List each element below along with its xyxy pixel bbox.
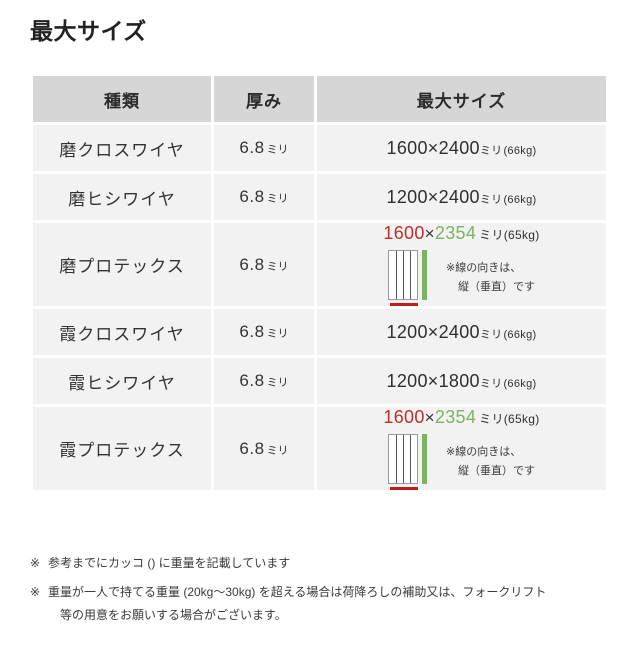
cell-thickness: 6.8ミリ <box>214 309 314 355</box>
size-weight: (66kg) <box>503 145 536 157</box>
footnote-line: 等の用意をお願いする場合がございます。 <box>48 604 610 627</box>
footnote-line: 重量が一人で持てる重量 (20kg〜30kg) を超える場合は荷降ろしの補助又は… <box>48 581 610 604</box>
size-text-group: 1200×2400ミリ(66kg) <box>387 187 537 207</box>
protex-note-line2: 縦（垂直）です <box>446 278 535 297</box>
thickness-unit: ミリ <box>267 261 289 273</box>
footnotes: ※ 参考までにカッコ () に重量を記載しています ※ 重量が一人で持てる重量 … <box>30 552 610 632</box>
panel-orientation-diagram-icon <box>388 434 434 490</box>
cell-maxsize: 1200×2400ミリ(66kg) <box>317 309 606 355</box>
protex-width-value: 1600 <box>383 223 424 243</box>
cell-thickness: 6.8ミリ <box>214 174 314 220</box>
thickness-value: 6.8 <box>239 371 264 390</box>
protex-height-value: 2354 <box>435 407 476 427</box>
size-text-group: 1600×2400ミリ(66kg) <box>387 138 537 158</box>
footnote-mark: ※ <box>30 552 48 575</box>
diagram-vertical-line <box>396 251 397 299</box>
size-dimensions: 1200×2400 <box>387 322 480 342</box>
thickness-unit: ミリ <box>267 144 289 156</box>
footnote-item: ※ 重量が一人で持てる重量 (20kg〜30kg) を超える場合は荷降ろしの補助… <box>30 581 610 627</box>
table-header-row: 種類 厚み 最大サイズ <box>33 76 606 122</box>
thickness-value: 6.8 <box>239 439 264 458</box>
page-title: 最大サイズ <box>30 18 147 46</box>
protex-detail-row: ※線の向きは、 縦（垂直）です <box>388 250 535 306</box>
protex-weight: (65kg) <box>504 228 540 242</box>
table-row: 霞クロスワイヤ 6.8ミリ 1200×2400ミリ(66kg) <box>33 309 606 355</box>
protex-weight: (65kg) <box>504 412 540 426</box>
cell-maxsize: 1600×2400ミリ(66kg) <box>317 125 606 171</box>
thickness-unit: ミリ <box>267 377 289 389</box>
table-row: 磨プロテックス 6.8ミリ 1600×2354ミリ(65kg) <box>33 223 606 306</box>
thickness-unit: ミリ <box>267 193 289 205</box>
diagram-vertical-line <box>396 435 397 483</box>
diagram-vertical-line <box>410 251 411 299</box>
cell-maxsize: 1200×2400ミリ(66kg) <box>317 174 606 220</box>
protex-size-block: 1600×2354ミリ(65kg) ※線の向きは <box>317 407 606 490</box>
protex-dimensions: 1600×2354ミリ(65kg) <box>383 223 539 244</box>
cell-maxsize: 1200×1800ミリ(66kg) <box>317 358 606 404</box>
cell-thickness: 6.8ミリ <box>214 358 314 404</box>
size-text-group: 1200×1800ミリ(66kg) <box>387 371 537 391</box>
table-header: 種類 厚み 最大サイズ <box>33 76 606 122</box>
footnote-line: 参考までにカッコ () に重量を記載しています <box>48 552 610 575</box>
max-size-table: 種類 厚み 最大サイズ 磨クロスワイヤ 6.8ミリ 1600×2400ミリ(66… <box>30 73 609 493</box>
size-unit: ミリ <box>480 194 503 206</box>
cell-thickness: 6.8ミリ <box>214 223 314 306</box>
table-row: 磨クロスワイヤ 6.8ミリ 1600×2400ミリ(66kg) <box>33 125 606 171</box>
protex-multiply-symbol: × <box>425 408 435 427</box>
size-unit: ミリ <box>480 329 503 341</box>
thickness-value: 6.8 <box>239 187 264 206</box>
cell-kind: 霞プロテックス <box>33 407 211 490</box>
table-row: 磨ヒシワイヤ 6.8ミリ 1200×2400ミリ(66kg) <box>33 174 606 220</box>
cell-thickness: 6.8ミリ <box>214 125 314 171</box>
size-text-group: 1200×2400ミリ(66kg) <box>387 322 537 342</box>
size-unit: ミリ <box>480 378 503 390</box>
size-dimensions: 1600×2400 <box>387 138 480 158</box>
diagram-vertical-line <box>403 435 404 483</box>
column-header-maxsize: 最大サイズ <box>317 76 606 122</box>
protex-dimensions: 1600×2354ミリ(65kg) <box>383 407 539 428</box>
cell-maxsize: 1600×2354ミリ(65kg) ※線の向きは <box>317 223 606 306</box>
cell-kind: 霞クロスワイヤ <box>33 309 211 355</box>
protex-size-unit: ミリ <box>479 412 504 426</box>
thickness-unit: ミリ <box>267 445 289 457</box>
diagram-height-marker <box>422 434 427 484</box>
cell-thickness: 6.8ミリ <box>214 407 314 490</box>
footnote-body: 重量が一人で持てる重量 (20kg〜30kg) を超える場合は荷降ろしの補助又は… <box>48 581 610 627</box>
protex-note-line1: ※線の向きは、 <box>446 443 535 462</box>
cell-kind: 磨プロテックス <box>33 223 211 306</box>
footnote-mark: ※ <box>30 581 48 627</box>
protex-multiply-symbol: × <box>425 224 435 243</box>
cell-maxsize: 1600×2354ミリ(65kg) ※線の向きは <box>317 407 606 490</box>
size-weight: (66kg) <box>503 329 536 341</box>
protex-width-value: 1600 <box>383 407 424 427</box>
size-dimensions: 1200×2400 <box>387 187 480 207</box>
protex-detail-row: ※線の向きは、 縦（垂直）です <box>388 434 535 490</box>
diagram-vertical-line <box>410 435 411 483</box>
thickness-value: 6.8 <box>239 322 264 341</box>
protex-note-line1: ※線の向きは、 <box>446 259 535 278</box>
cell-kind: 磨ヒシワイヤ <box>33 174 211 220</box>
protex-size-block: 1600×2354ミリ(65kg) ※線の向きは <box>317 223 606 306</box>
size-weight: (66kg) <box>503 378 536 390</box>
diagram-height-marker <box>422 250 427 300</box>
panel-orientation-diagram-icon <box>388 250 434 306</box>
size-dimensions: 1200×1800 <box>387 371 480 391</box>
diagram-width-marker <box>390 303 418 306</box>
thickness-value: 6.8 <box>239 255 264 274</box>
diagram-vertical-line <box>403 251 404 299</box>
column-header-thickness: 厚み <box>214 76 314 122</box>
cell-kind: 磨クロスワイヤ <box>33 125 211 171</box>
table-row: 霞プロテックス 6.8ミリ 1600×2354ミリ(65kg) <box>33 407 606 490</box>
thickness-value: 6.8 <box>239 138 264 157</box>
footnote-item: ※ 参考までにカッコ () に重量を記載しています <box>30 552 610 575</box>
table-row: 霞ヒシワイヤ 6.8ミリ 1200×1800ミリ(66kg) <box>33 358 606 404</box>
size-unit: ミリ <box>480 145 503 157</box>
table-body: 磨クロスワイヤ 6.8ミリ 1600×2400ミリ(66kg) 磨ヒシワイヤ 6… <box>33 125 606 490</box>
thickness-unit: ミリ <box>267 328 289 340</box>
protex-height-value: 2354 <box>435 223 476 243</box>
protex-size-unit: ミリ <box>479 228 504 242</box>
max-size-page: 最大サイズ 種類 厚み 最大サイズ 磨クロスワイヤ 6.8ミリ 1600×240… <box>0 0 640 655</box>
protex-note: ※線の向きは、 縦（垂直）です <box>446 443 535 480</box>
column-header-kind: 種類 <box>33 76 211 122</box>
footnote-body: 参考までにカッコ () に重量を記載しています <box>48 552 610 575</box>
protex-note-line2: 縦（垂直）です <box>446 462 535 481</box>
protex-note: ※線の向きは、 縦（垂直）です <box>446 259 535 296</box>
diagram-width-marker <box>390 487 418 490</box>
size-weight: (66kg) <box>503 194 536 206</box>
cell-kind: 霞ヒシワイヤ <box>33 358 211 404</box>
